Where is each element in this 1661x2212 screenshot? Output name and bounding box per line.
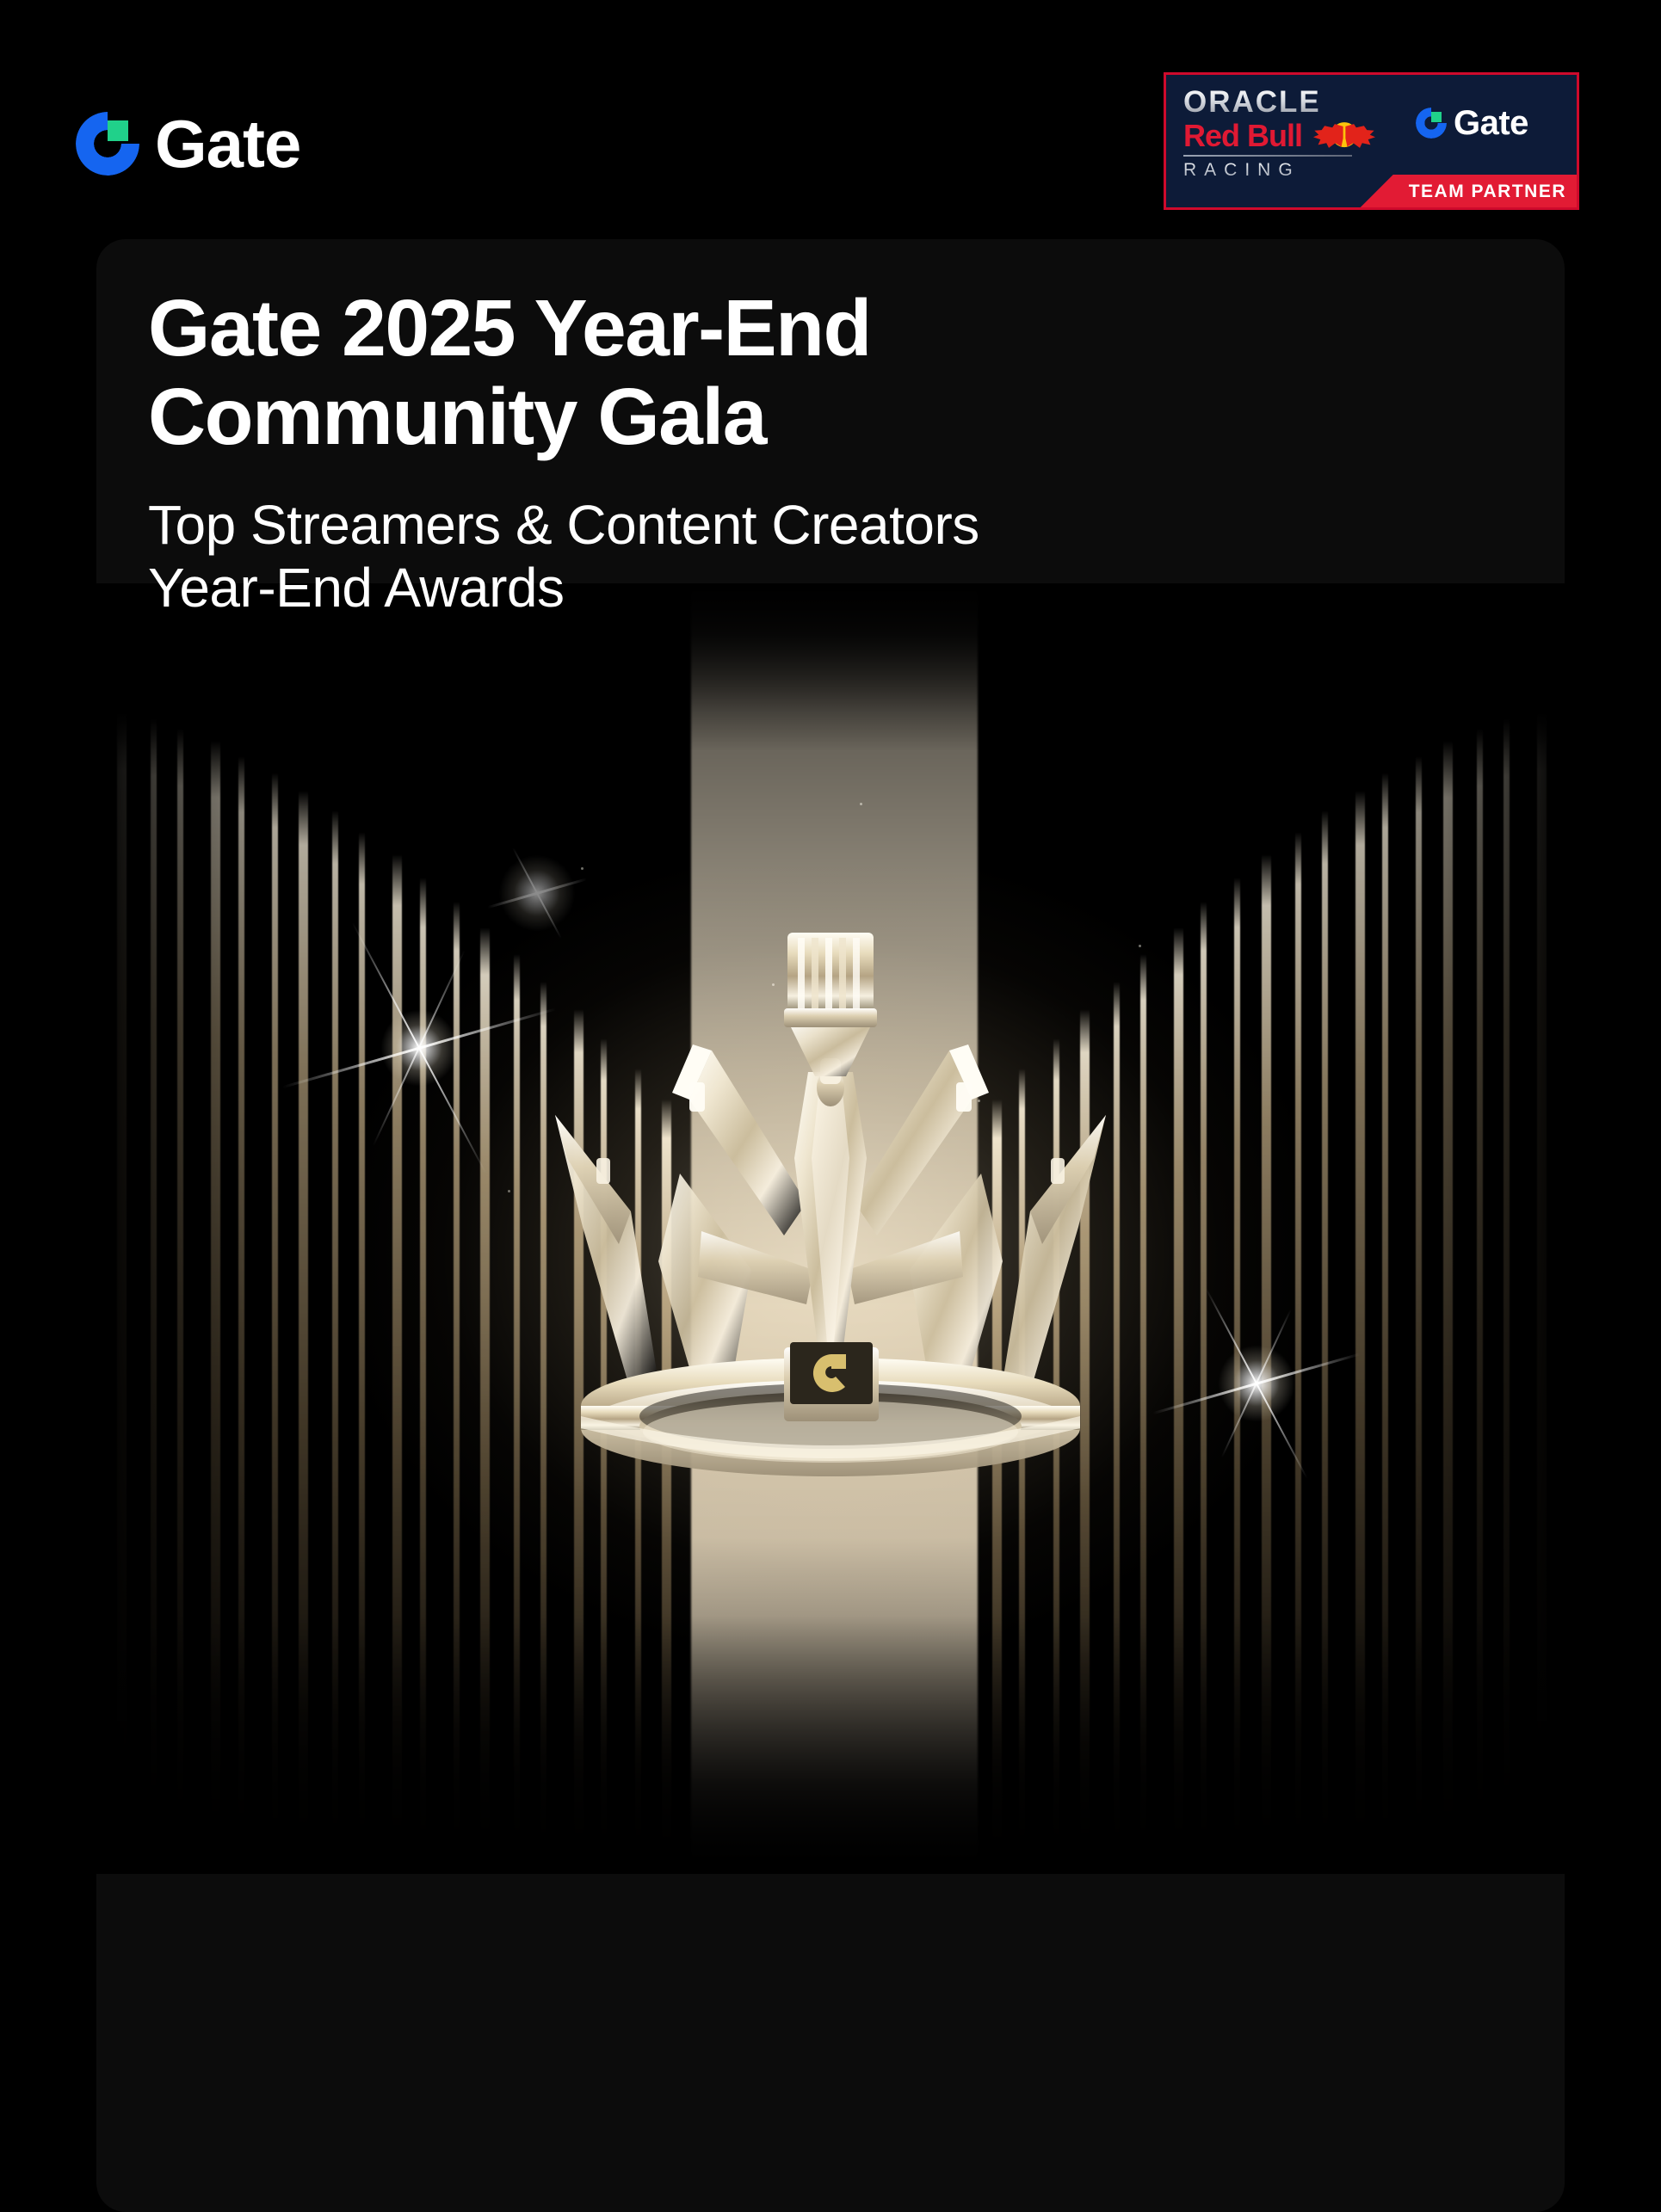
gate-logo-icon — [1416, 108, 1447, 139]
badge-left-block: ORACLE Red Bull RACING — [1183, 87, 1399, 181]
team-partner-banner: TEAM PARTNER — [1359, 175, 1578, 209]
gate-logo-icon — [76, 112, 139, 176]
announcement-card: Gate 2025 Year-End Community Gala Top St… — [96, 239, 1565, 2212]
brand-wordmark: Gate — [155, 110, 300, 177]
racing-wordmark: RACING — [1183, 160, 1399, 181]
oracle-red-bull-racing-team-partner-badge[interactable]: ORACLE Red Bull RACING Gate TEAM PARTNE — [1164, 72, 1579, 210]
page-title: Gate 2025 Year-End Community Gala — [148, 284, 1095, 461]
badge-gate-wordmark: Gate — [1454, 106, 1528, 140]
card-text-block: Gate 2025 Year-End Community Gala Top St… — [96, 239, 1565, 619]
stage-backdrop — [96, 583, 1565, 1874]
hero-image — [96, 583, 1565, 1874]
page-subtitle: Top Streamers & Content Creators Year-En… — [148, 494, 1077, 619]
oracle-wordmark: ORACLE — [1183, 87, 1399, 119]
badge-gate-logo: Gate — [1416, 106, 1528, 140]
page-header: Gate ORACLE Red Bull RACING Gate — [0, 0, 1661, 241]
brand-logo[interactable]: Gate — [76, 110, 300, 177]
red-bull-charging-bulls-icon — [1307, 120, 1381, 151]
badge-divider — [1183, 155, 1352, 157]
hero-vignette — [96, 583, 1565, 1874]
team-partner-label: TEAM PARTNER — [1409, 182, 1566, 202]
red-bull-row: Red Bull — [1183, 120, 1399, 152]
red-bull-wordmark: Red Bull — [1183, 120, 1302, 152]
